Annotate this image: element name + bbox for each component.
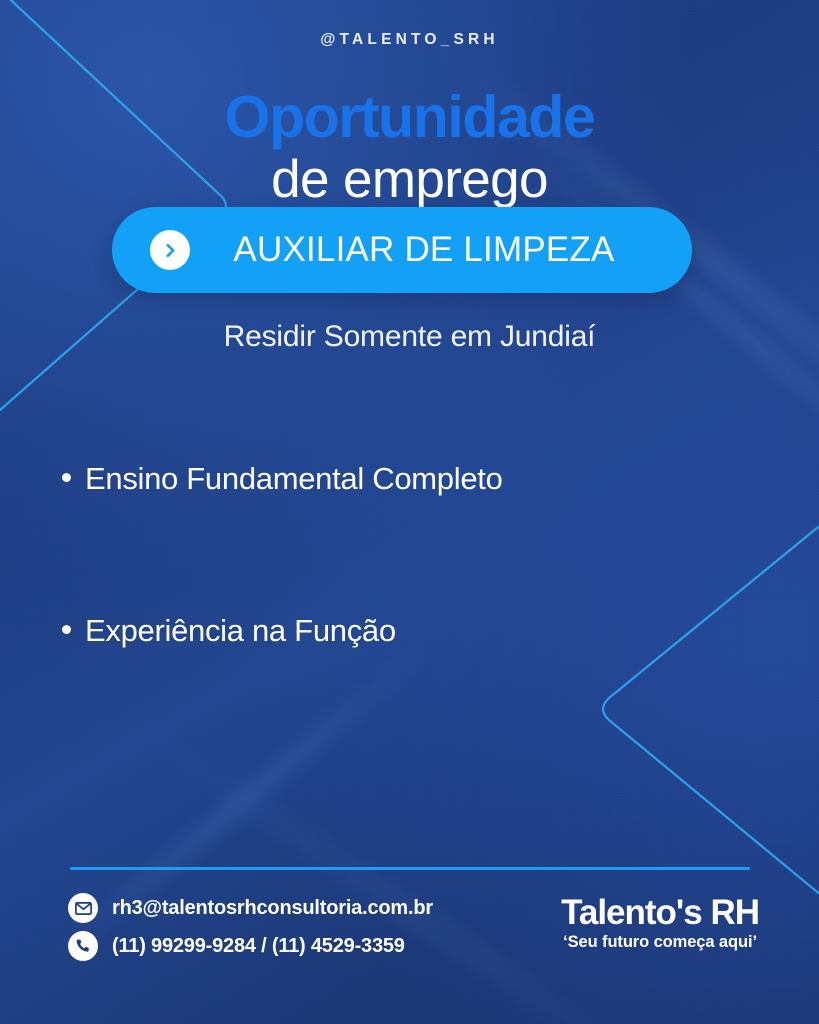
requirement-text: Experiência na Função (85, 614, 396, 648)
phone-icon (68, 931, 98, 961)
company-logo: Talento's RH ‘Seu futuro começa aqui’ (561, 893, 759, 952)
list-item: Ensino Fundamental Completo (62, 462, 759, 496)
headline-line-2: de emprego (0, 153, 819, 206)
account-handle: @TALENTO_SRH (0, 31, 819, 49)
contact-email-row[interactable]: rh3@talentosrhconsultoria.com.br (68, 893, 433, 923)
location-requirement: Residir Somente em Jundiaí (0, 320, 819, 354)
headline: Oportunidade de emprego (0, 88, 819, 206)
footer-divider (70, 867, 750, 870)
chevron-right-icon (150, 230, 190, 270)
bullet-icon (62, 473, 71, 482)
email-address: rh3@talentosrhconsultoria.com.br (112, 897, 433, 920)
list-item: Experiência na Função (62, 614, 759, 648)
footer: rh3@talentosrhconsultoria.com.br (11) 99… (68, 893, 759, 961)
requirements-list: Ensino Fundamental Completo Experiência … (62, 462, 759, 766)
contact-details: rh3@talentosrhconsultoria.com.br (11) 99… (68, 893, 433, 961)
envelope-icon (68, 893, 98, 923)
role-title: AUXILIAR DE LIMPEZA (190, 230, 692, 270)
contact-phone-row[interactable]: (11) 99299-9284 / (11) 4529-3359 (68, 931, 433, 961)
company-name: Talento's RH (561, 895, 759, 930)
requirement-text: Ensino Fundamental Completo (85, 462, 503, 496)
phone-numbers: (11) 99299-9284 / (11) 4529-3359 (112, 935, 405, 958)
headline-line-1: Oportunidade (0, 88, 819, 147)
job-posting-poster: @TALENTO_SRH Oportunidade de emprego AUX… (0, 0, 819, 1024)
role-badge: AUXILIAR DE LIMPEZA (112, 207, 692, 293)
bullet-icon (62, 625, 71, 634)
company-tagline: ‘Seu futuro começa aqui’ (561, 933, 759, 952)
